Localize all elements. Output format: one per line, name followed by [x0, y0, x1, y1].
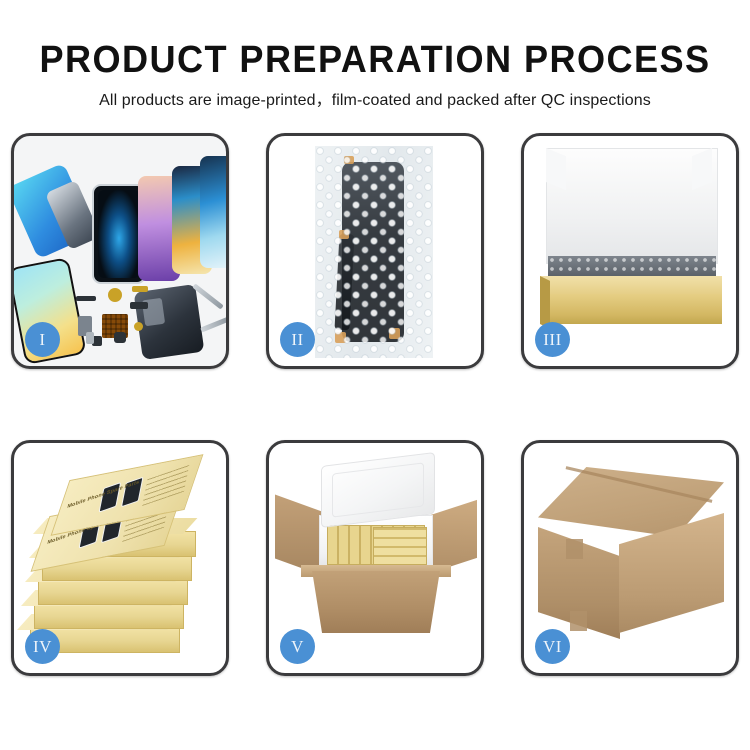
bubble-wrap-bag	[315, 146, 433, 358]
step-badge-3: III	[535, 322, 570, 357]
process-steps-grid: I II III	[11, 133, 739, 676]
screwdriver-tool	[200, 317, 226, 333]
step-badge-5: V	[280, 629, 315, 664]
step-panel-6[interactable]: VI	[521, 440, 739, 676]
sim-tray	[86, 332, 94, 344]
page-header: PRODUCT PREPARATION PROCESS All products…	[0, 0, 750, 112]
step-badge-1: I	[25, 322, 60, 357]
step-panel-5[interactable]: V	[266, 440, 484, 676]
carton-tape-lower	[570, 611, 587, 631]
blue-display-phone	[200, 156, 226, 268]
step-panel-4[interactable]: Mobile Phone Spare Parts Mobile Phone Sp…	[11, 440, 229, 676]
taptic-engine	[114, 332, 126, 343]
carton-tape-upper	[566, 539, 583, 559]
step-badge-2: II	[280, 322, 315, 357]
page-subtitle: All products are image-printed，film-coat…	[0, 90, 750, 112]
yellow-box-left-edge	[540, 276, 550, 329]
bubble-texture	[315, 146, 433, 358]
step-badge-4: IV	[25, 629, 60, 664]
box-inner-side	[540, 276, 722, 296]
ribbon-cable	[130, 302, 148, 309]
step-badge-6: VI	[535, 629, 570, 664]
flex-connector	[132, 286, 148, 292]
yellow-box-front	[540, 294, 722, 324]
yellow-boxes-second-row	[373, 527, 427, 565]
phone-back-cover	[134, 284, 205, 360]
step-panel-1[interactable]: I	[11, 133, 229, 369]
screw-part	[134, 322, 143, 331]
speaker-part	[76, 296, 96, 301]
step-panel-2[interactable]: II	[266, 133, 484, 369]
page-title: PRODUCT PREPARATION PROCESS	[19, 38, 732, 82]
carton-front-face	[305, 571, 447, 633]
step-panel-3[interactable]: III	[521, 133, 739, 369]
gold-coil-part	[108, 288, 122, 302]
